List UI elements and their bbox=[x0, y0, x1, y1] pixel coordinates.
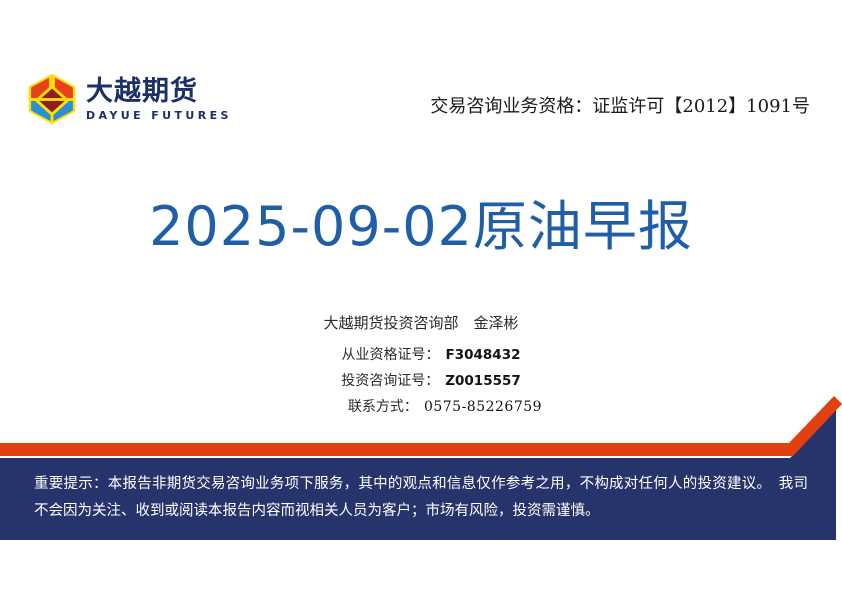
license-qualification-text: 交易咨询业务资格：证监许可【2012】1091号 bbox=[430, 92, 810, 118]
disclaimer-text: 重要提示：本报告非期货交易咨询业务项下服务，其中的观点和信息仅作参考之用，不构成… bbox=[34, 471, 808, 525]
page-header: 大越期货 DAYUE FUTURES 交易咨询业务资格：证监许可【2012】10… bbox=[0, 0, 842, 160]
dayue-hexagon-logo-icon bbox=[28, 74, 76, 124]
credential-row-practice: 从业资格证号： F3048432 bbox=[322, 344, 521, 364]
banner-orange-stripe bbox=[0, 396, 842, 456]
credential-value-practice: F3048432 bbox=[446, 347, 521, 363]
brand-wordmark: 大越期货 DAYUE FUTURES bbox=[86, 78, 232, 121]
brand-lockup: 大越期货 DAYUE FUTURES bbox=[28, 74, 232, 124]
disclaimer-banner: 重要提示：本报告非期货交易咨询业务项下服务，其中的观点和信息仅作参考之用，不构成… bbox=[0, 458, 842, 537]
credential-label-practice: 从业资格证号： bbox=[322, 344, 440, 364]
byline-department-author: 大越期货投资咨询部 金泽彬 bbox=[0, 312, 842, 333]
title-block: 2025-09-02原油早报 bbox=[0, 196, 842, 258]
page-title: 2025-09-02原油早报 bbox=[0, 196, 842, 258]
brand-name-en: DAYUE FUTURES bbox=[86, 110, 232, 121]
report-cover-page: 大越期货 DAYUE FUTURES 交易咨询业务资格：证监许可【2012】10… bbox=[0, 0, 842, 595]
brand-name-cn: 大越期货 bbox=[86, 78, 232, 105]
